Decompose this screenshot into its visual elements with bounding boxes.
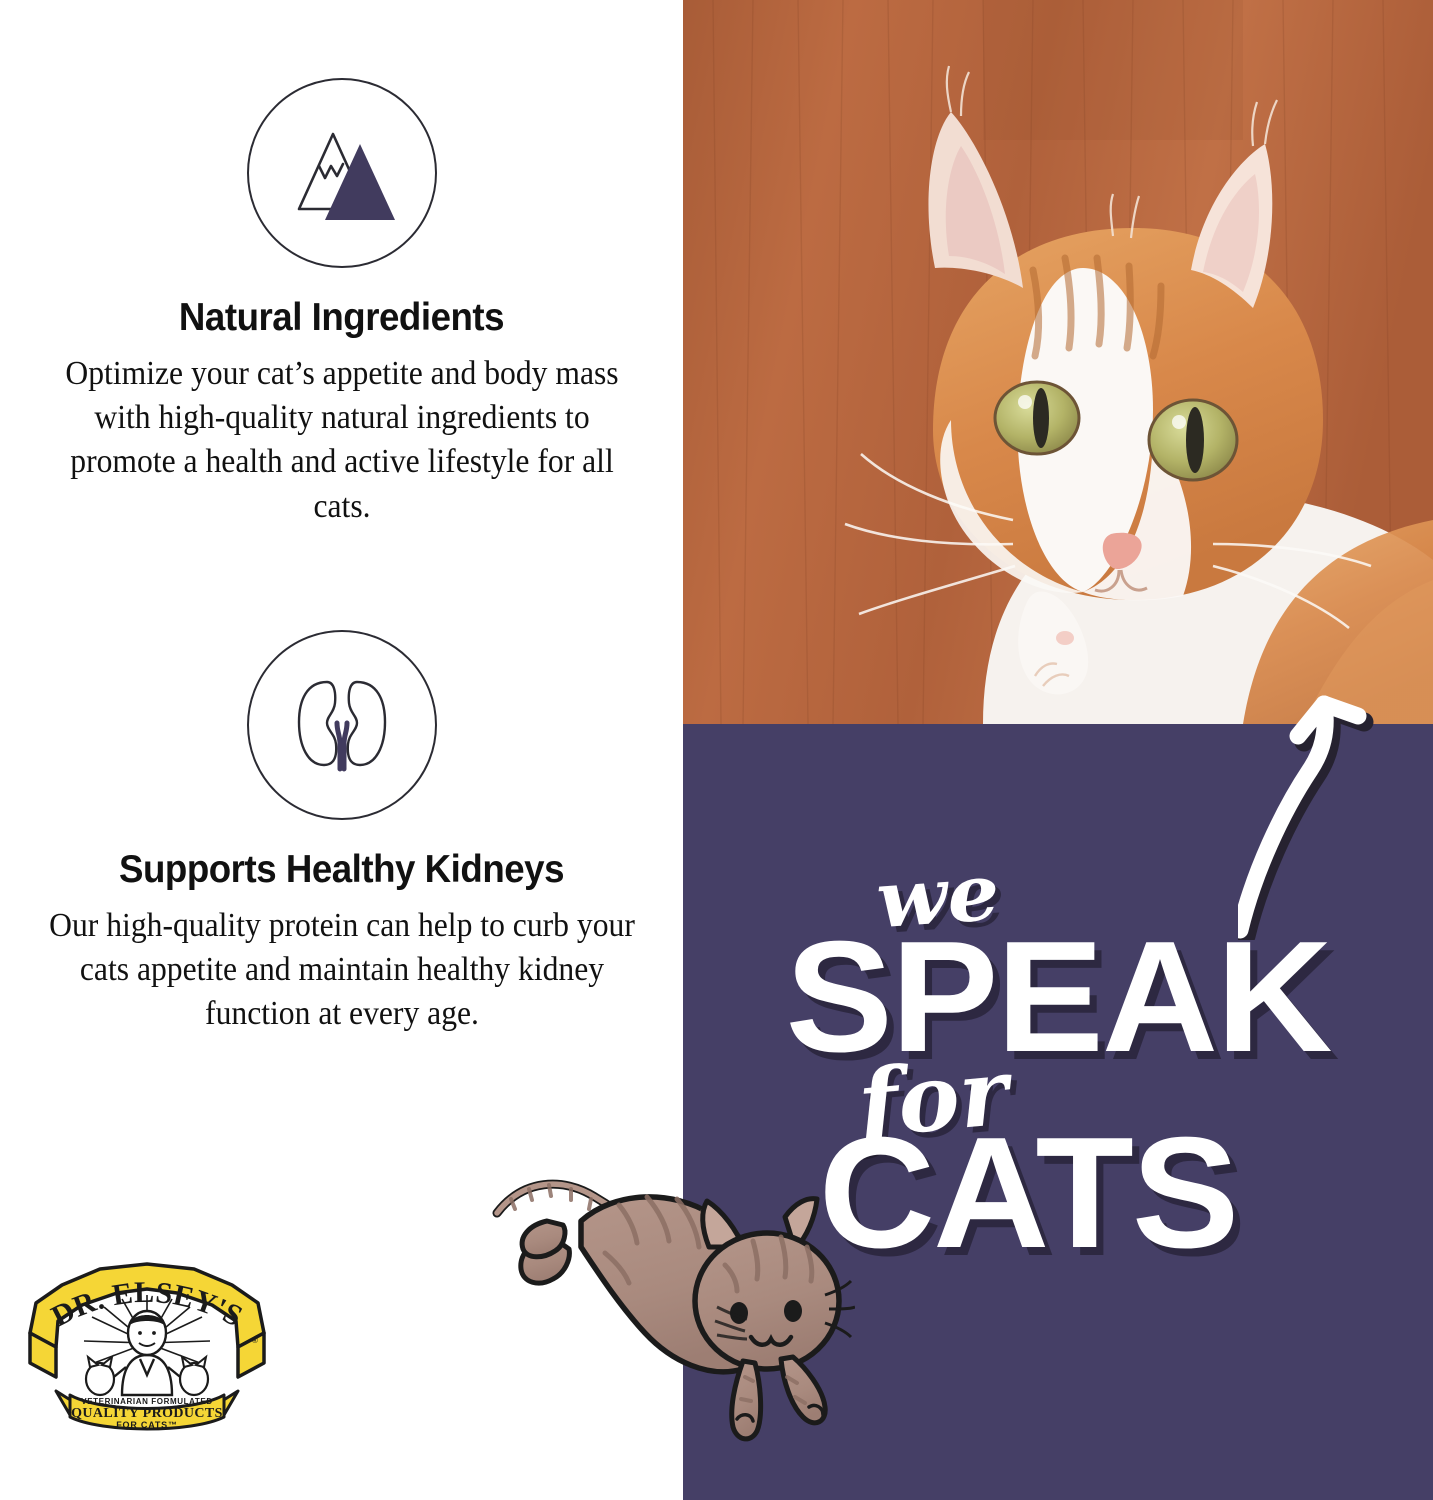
feature-body: Optimize your cat’s appetite and body ma… <box>44 352 639 529</box>
logo-tagline-line3: FOR CATS™ <box>116 1420 178 1430</box>
logo-tagline-line1: VETERINARIAN FORMULATED <box>81 1397 212 1406</box>
logo-registered-mark: ® <box>252 1336 258 1345</box>
mountains-icon-glyph <box>277 116 407 231</box>
cat-right-eye <box>1149 400 1237 480</box>
logo-tagline-line2: QUALITY PRODUCTS <box>71 1406 223 1421</box>
feature-body: Our high-quality protein can help to cur… <box>44 904 639 1037</box>
cartoon-cat-right-eye <box>784 1300 802 1322</box>
feature-natural-ingredients: Natural Ingredients Optimize your cat’s … <box>0 78 683 529</box>
orange-white-cat-photo <box>683 0 1433 724</box>
feature-supports-healthy-kidneys: Supports Healthy Kidneys Our high-qualit… <box>0 630 683 1037</box>
leaping-tabby-cat-illustration <box>485 1155 855 1445</box>
cat-left-eye <box>995 382 1079 454</box>
feature-title: Natural Ingredients <box>20 296 662 340</box>
product-feature-infographic: Natural Ingredients Optimize your cat’s … <box>0 0 1433 1500</box>
dr-elseys-logo: DR. ELSEY'S ® <box>22 1255 272 1435</box>
leaping-cat-glyph <box>485 1155 855 1445</box>
feature-title: Supports Healthy Kidneys <box>20 848 662 892</box>
dr-elseys-logo-glyph: DR. ELSEY'S ® <box>22 1255 272 1435</box>
kidneys-icon <box>247 630 437 820</box>
cat-photo-illustration <box>683 0 1433 724</box>
mountains-icon <box>247 78 437 268</box>
kidneys-icon-glyph <box>277 670 407 780</box>
